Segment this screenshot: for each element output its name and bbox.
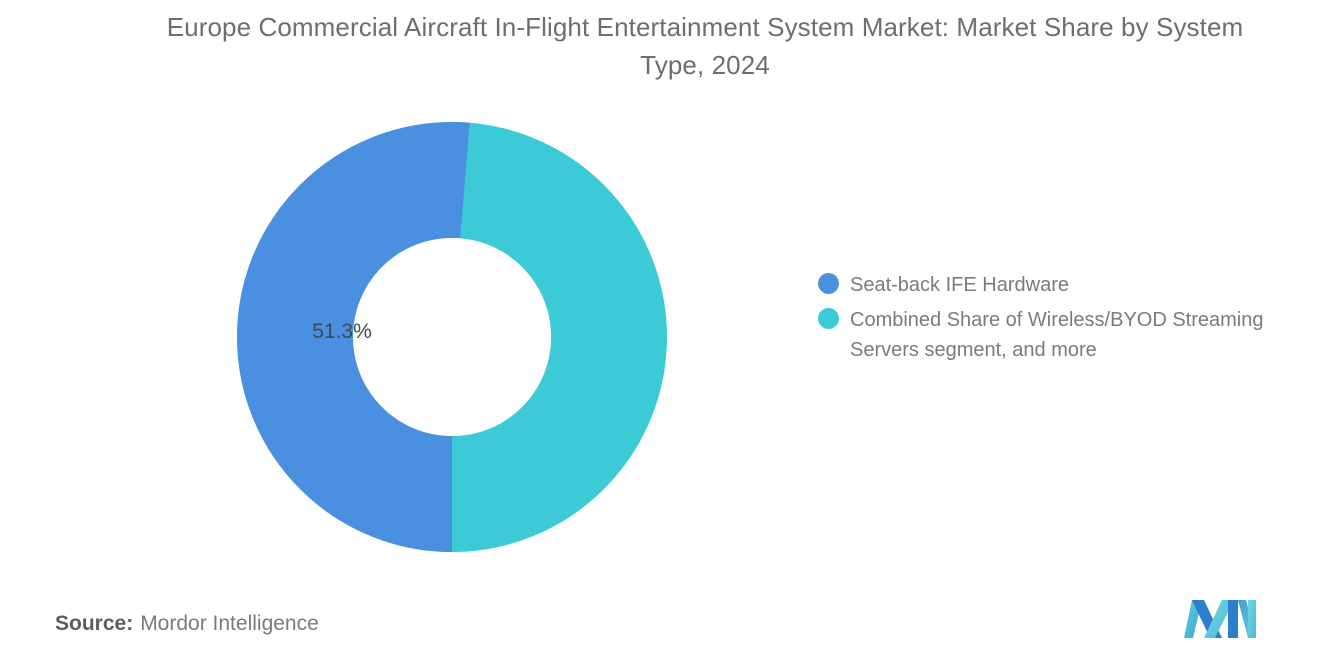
donut-svg [237, 122, 667, 552]
legend-item-seat-back-ife-hardware[interactable]: Seat-back IFE Hardware [818, 270, 1318, 300]
source-value: Mordor Intelligence [140, 612, 319, 635]
chart-title: Europe Commercial Aircraft In-Flight Ent… [160, 8, 1250, 84]
source-attribution: Source:Mordor Intelligence [55, 612, 319, 636]
legend-item-combined-share-wireless-byod[interactable]: Combined Share of Wireless/BYOD Streamin… [818, 305, 1318, 365]
logo-svg [1182, 598, 1258, 640]
legend-item-label: Combined Share of Wireless/BYOD Streamin… [850, 305, 1318, 365]
legend-item-label: Seat-back IFE Hardware [850, 270, 1069, 300]
donut-chart: 51.3% [237, 122, 667, 552]
mordor-intelligence-logo-icon [1182, 598, 1258, 640]
donut-hole [353, 238, 551, 436]
legend-marker-icon [818, 308, 839, 329]
legend-marker-icon [818, 273, 839, 294]
chart-legend: Seat-back IFE Hardware Combined Share of… [818, 270, 1318, 370]
source-label: Source: [55, 612, 133, 635]
